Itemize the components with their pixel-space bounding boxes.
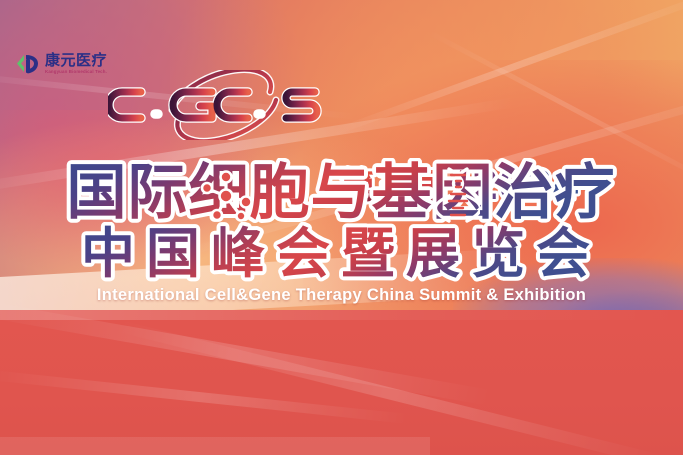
bottom-panel-highlight: [0, 310, 683, 320]
title-line-2: 中国峰会暨展览会 中国峰会暨展览会: [0, 222, 683, 280]
english-subtitle: International Cell&Gene Therapy China Su…: [0, 286, 683, 305]
bottom-red-panel: [0, 310, 683, 455]
sponsor-name-cn: 康元医疗: [45, 53, 107, 68]
molecule-icon: [196, 170, 256, 224]
title-line-1: 国际细胞与基因治疗 国际细胞与基因治疗: [0, 158, 683, 226]
bottom-foot-band: [0, 437, 430, 455]
bottom-streak-2: [117, 320, 663, 455]
sponsor-mark-icon: [14, 52, 40, 76]
sponsor-text-group: 康元医疗 Kangyuan Biomedical Tech.: [45, 53, 107, 74]
dna-helix-icon: [436, 166, 480, 224]
main-title-block: 国际细胞与基因治疗 国际细胞与基因治疗: [0, 158, 683, 280]
cgcs-lockup: 第五届 第五届 2024 2024: [0, 72, 683, 142]
svg-text:国际细胞与基因治疗: 国际细胞与基因治疗: [67, 158, 616, 228]
cgcs-acronym-logo: [108, 70, 338, 140]
sponsor-logo[interactable]: 康元医疗 Kangyuan Biomedical Tech.: [14, 52, 107, 76]
poster-canvas: 康元医疗 Kangyuan Biomedical Tech.: [0, 0, 683, 455]
svg-text:中国峰会暨展览会: 中国峰会暨展览会: [81, 222, 601, 285]
sponsor-name-en: Kangyuan Biomedical Tech.: [45, 70, 107, 74]
